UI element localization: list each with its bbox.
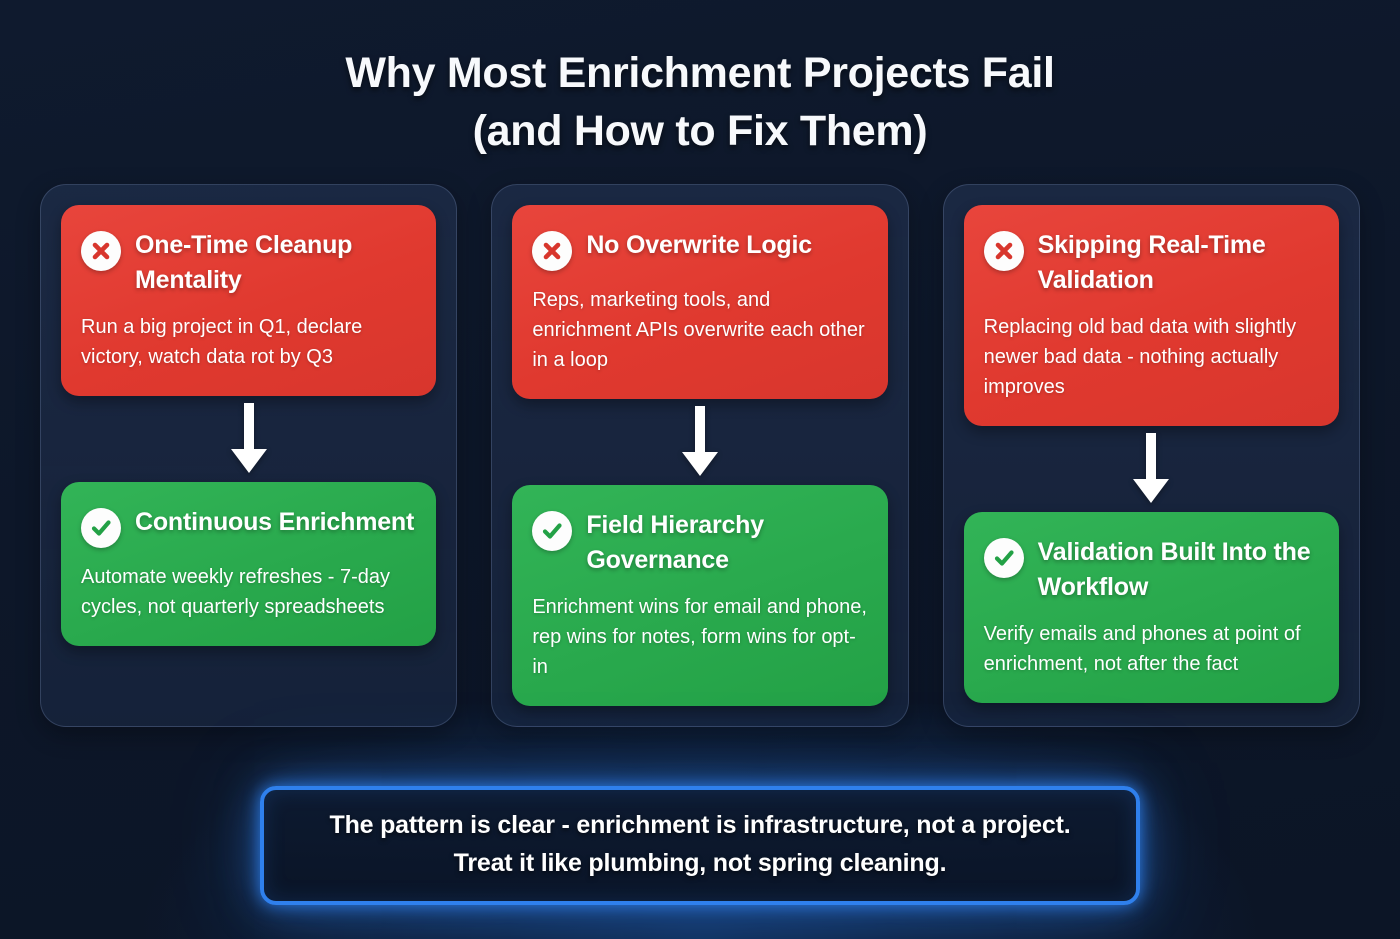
columns-container: One-Time Cleanup Mentality Run a big pro… [0,184,1400,727]
problem-card-3-body: Replacing old bad data with slightly new… [984,312,1319,402]
solution-card-2: Field Hierarchy Governance Enrichment wi… [512,485,887,706]
down-arrow-icon-3 [1129,426,1173,512]
solution-card-3-header: Validation Built Into the Workflow [984,534,1319,605]
solution-card-1-body: Automate weekly refreshes - 7-day cycles… [81,562,416,622]
solution-card-2-header: Field Hierarchy Governance [532,507,867,578]
check-circle-icon [532,511,572,551]
summary-banner-line-2: Treat it like plumbing, not spring clean… [294,844,1106,882]
column-3: Skipping Real-Time Validation Replacing … [943,184,1360,727]
page-title-line-1: Why Most Enrichment Projects Fail [0,44,1400,102]
problem-card-1-header: One-Time Cleanup Mentality [81,227,416,298]
x-circle-icon [532,231,572,271]
page-title-line-2: (and How to Fix Them) [0,102,1400,160]
solution-card-1-header: Continuous Enrichment [81,504,416,548]
solution-card-1: Continuous Enrichment Automate weekly re… [61,482,436,646]
summary-banner-line-1: The pattern is clear - enrichment is inf… [294,806,1106,844]
solution-card-2-title: Field Hierarchy Governance [586,507,867,578]
problem-card-1-title: One-Time Cleanup Mentality [135,227,416,298]
solution-card-3: Validation Built Into the Workflow Verif… [964,512,1339,703]
summary-banner-wrap: The pattern is clear - enrichment is inf… [0,786,1400,905]
down-arrow-icon-2 [678,399,722,485]
problem-card-1: One-Time Cleanup Mentality Run a big pro… [61,205,436,396]
x-circle-icon [984,231,1024,271]
solution-card-3-title: Validation Built Into the Workflow [1038,534,1319,605]
problem-card-3: Skipping Real-Time Validation Replacing … [964,205,1339,426]
solution-card-3-body: Verify emails and phones at point of enr… [984,619,1319,679]
column-2: No Overwrite Logic Reps, marketing tools… [491,184,908,727]
problem-card-2: No Overwrite Logic Reps, marketing tools… [512,205,887,399]
problem-card-2-body: Reps, marketing tools, and enrichment AP… [532,285,867,375]
summary-banner: The pattern is clear - enrichment is inf… [260,786,1140,905]
solution-card-2-body: Enrichment wins for email and phone, rep… [532,592,867,682]
check-circle-icon [984,538,1024,578]
problem-card-2-header: No Overwrite Logic [532,227,867,271]
column-1: One-Time Cleanup Mentality Run a big pro… [40,184,457,727]
problem-card-3-title: Skipping Real-Time Validation [1038,227,1319,298]
down-arrow-icon-1 [227,396,271,482]
problem-card-3-header: Skipping Real-Time Validation [984,227,1319,298]
check-circle-icon [81,508,121,548]
problem-card-1-body: Run a big project in Q1, declare victory… [81,312,416,372]
solution-card-1-title: Continuous Enrichment [135,504,414,540]
problem-card-2-title: No Overwrite Logic [586,227,812,263]
x-circle-icon [81,231,121,271]
page-title: Why Most Enrichment Projects Fail (and H… [0,0,1400,160]
